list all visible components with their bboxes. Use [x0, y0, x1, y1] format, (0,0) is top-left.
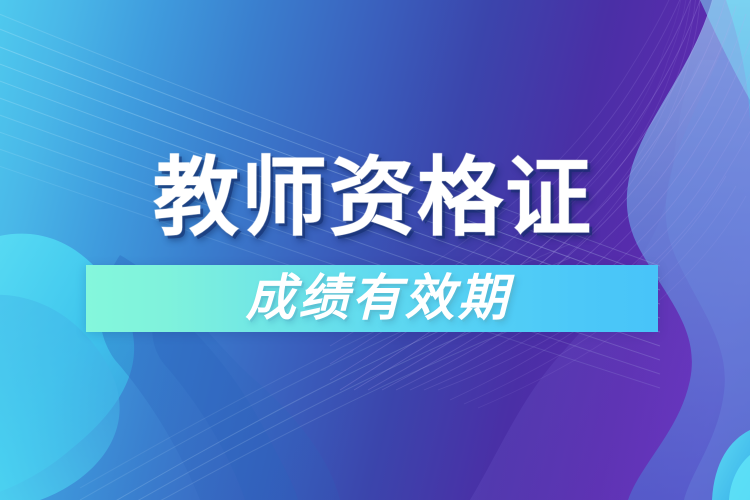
arc-line-texture-lower-left: [100, 210, 580, 500]
banner-title-wrapper: 教师资格证: [0, 150, 750, 246]
promo-banner: 教师资格证 成绩有效期: [0, 0, 750, 500]
subtitle-bar: 成绩有效期: [86, 265, 658, 332]
banner-title: 教师资格证: [153, 150, 593, 246]
background-waves: [0, 0, 750, 500]
banner-subtitle: 成绩有效期: [246, 270, 511, 326]
